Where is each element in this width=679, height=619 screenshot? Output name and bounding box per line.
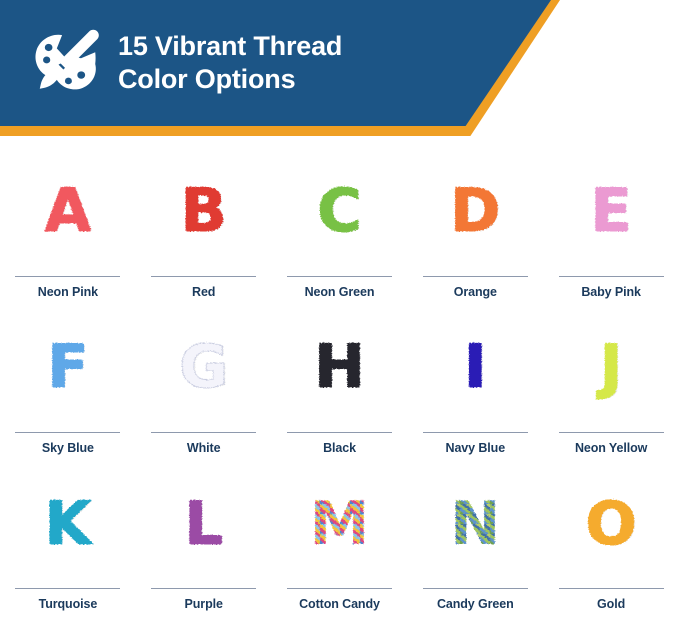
swatch-letter-box: E bbox=[543, 150, 679, 276]
swatch-divider bbox=[559, 276, 664, 277]
swatch-letter-glyph: B bbox=[181, 181, 227, 241]
swatch-divider bbox=[423, 432, 528, 433]
swatch-letter-box: I bbox=[407, 306, 543, 432]
swatch-divider bbox=[559, 432, 664, 433]
swatch-cell[interactable]: E Baby Pink bbox=[543, 150, 679, 306]
swatch-label: Navy Blue bbox=[446, 442, 506, 455]
swatch-divider bbox=[15, 432, 120, 433]
palette-with-paintbrush-icon bbox=[30, 26, 104, 100]
swatch-letter-box: M bbox=[272, 463, 408, 589]
swatch-letter-box: B bbox=[136, 150, 272, 276]
swatch-cell[interactable]: F Sky Blue bbox=[0, 306, 136, 462]
swatch-letter-glyph: M bbox=[310, 494, 370, 554]
swatch-label: Cotton Candy bbox=[299, 598, 380, 611]
swatch-label: Purple bbox=[185, 598, 223, 611]
swatch-cell[interactable]: I Navy Blue bbox=[407, 306, 543, 462]
swatch-divider bbox=[287, 432, 392, 433]
swatch-letter-glyph: K bbox=[45, 494, 92, 554]
swatch-cell[interactable]: O Gold bbox=[543, 463, 679, 619]
swatch-cell[interactable]: J Neon Yellow bbox=[543, 306, 679, 462]
swatch-cell[interactable]: D Orange bbox=[407, 150, 543, 306]
swatch-cell[interactable]: M Cotton Candy bbox=[272, 463, 408, 619]
swatch-divider bbox=[423, 276, 528, 277]
swatch-cell[interactable]: K Turquoise bbox=[0, 463, 136, 619]
swatch-letter-glyph: D bbox=[450, 181, 500, 241]
swatch-label: Neon Pink bbox=[38, 286, 98, 299]
swatch-label: Neon Yellow bbox=[575, 442, 647, 455]
swatch-letter-glyph: J bbox=[600, 337, 622, 397]
swatch-divider bbox=[423, 588, 528, 589]
swatch-label: Turquoise bbox=[39, 598, 98, 611]
swatch-cell[interactable]: L Purple bbox=[136, 463, 272, 619]
swatch-divider bbox=[287, 588, 392, 589]
swatch-letter-box: L bbox=[136, 463, 272, 589]
swatch-letter-glyph: H bbox=[314, 337, 364, 397]
swatch-letter-box: D bbox=[407, 150, 543, 276]
swatch-label: Neon Green bbox=[305, 286, 375, 299]
swatch-letter-box: A bbox=[0, 150, 136, 276]
swatch-cell[interactable]: N Candy Green bbox=[407, 463, 543, 619]
swatch-divider bbox=[15, 276, 120, 277]
swatch-letter-glyph: A bbox=[45, 181, 91, 241]
swatch-divider bbox=[559, 588, 664, 589]
swatch-label: Black bbox=[323, 442, 356, 455]
swatch-label: Baby Pink bbox=[581, 286, 641, 299]
swatch-label: Candy Green bbox=[437, 598, 514, 611]
swatch-letter-glyph: F bbox=[47, 337, 88, 397]
swatch-letter-box: G bbox=[136, 306, 272, 432]
swatch-cell[interactable]: C Neon Green bbox=[272, 150, 408, 306]
swatch-label: White bbox=[187, 442, 221, 455]
banner-content: 15 Vibrant Thread Color Options bbox=[0, 0, 551, 126]
swatch-letter-glyph: N bbox=[450, 494, 500, 554]
swatch-letter-box: O bbox=[543, 463, 679, 589]
swatch-divider bbox=[151, 588, 256, 589]
swatch-letter-glyph: I bbox=[464, 337, 486, 397]
swatch-cell[interactable]: A Neon Pink bbox=[0, 150, 136, 306]
swatch-letter-box: C bbox=[272, 150, 408, 276]
swatch-letter-box: K bbox=[0, 463, 136, 589]
swatch-cell[interactable]: B Red bbox=[136, 150, 272, 306]
swatch-letter-box: F bbox=[0, 306, 136, 432]
page-title: 15 Vibrant Thread Color Options bbox=[118, 30, 342, 96]
swatch-label: Red bbox=[192, 286, 215, 299]
swatch-letter-glyph: C bbox=[317, 181, 361, 241]
swatch-label: Gold bbox=[597, 598, 625, 611]
thread-color-chart-page: 15 Vibrant Thread Color Options A Neon P… bbox=[0, 0, 679, 619]
swatch-cell[interactable]: H Black bbox=[272, 306, 408, 462]
swatch-label: Orange bbox=[454, 286, 497, 299]
swatch-letter-glyph: G bbox=[179, 337, 228, 397]
swatch-letter-box: N bbox=[407, 463, 543, 589]
swatch-cell[interactable]: G White bbox=[136, 306, 272, 462]
swatch-letter-box: J bbox=[543, 306, 679, 432]
swatch-divider bbox=[151, 432, 256, 433]
swatch-divider bbox=[15, 588, 120, 589]
swatch-letter-glyph: O bbox=[586, 494, 637, 554]
swatch-letter-box: H bbox=[272, 306, 408, 432]
swatch-divider bbox=[151, 276, 256, 277]
color-swatch-grid: A Neon Pink B Red C Neon Green D Orange bbox=[0, 150, 679, 619]
swatch-letter-glyph: E bbox=[591, 181, 632, 241]
swatch-divider bbox=[287, 276, 392, 277]
header-banner: 15 Vibrant Thread Color Options bbox=[0, 0, 679, 140]
swatch-label: Sky Blue bbox=[42, 442, 94, 455]
swatch-letter-glyph: L bbox=[185, 494, 223, 554]
